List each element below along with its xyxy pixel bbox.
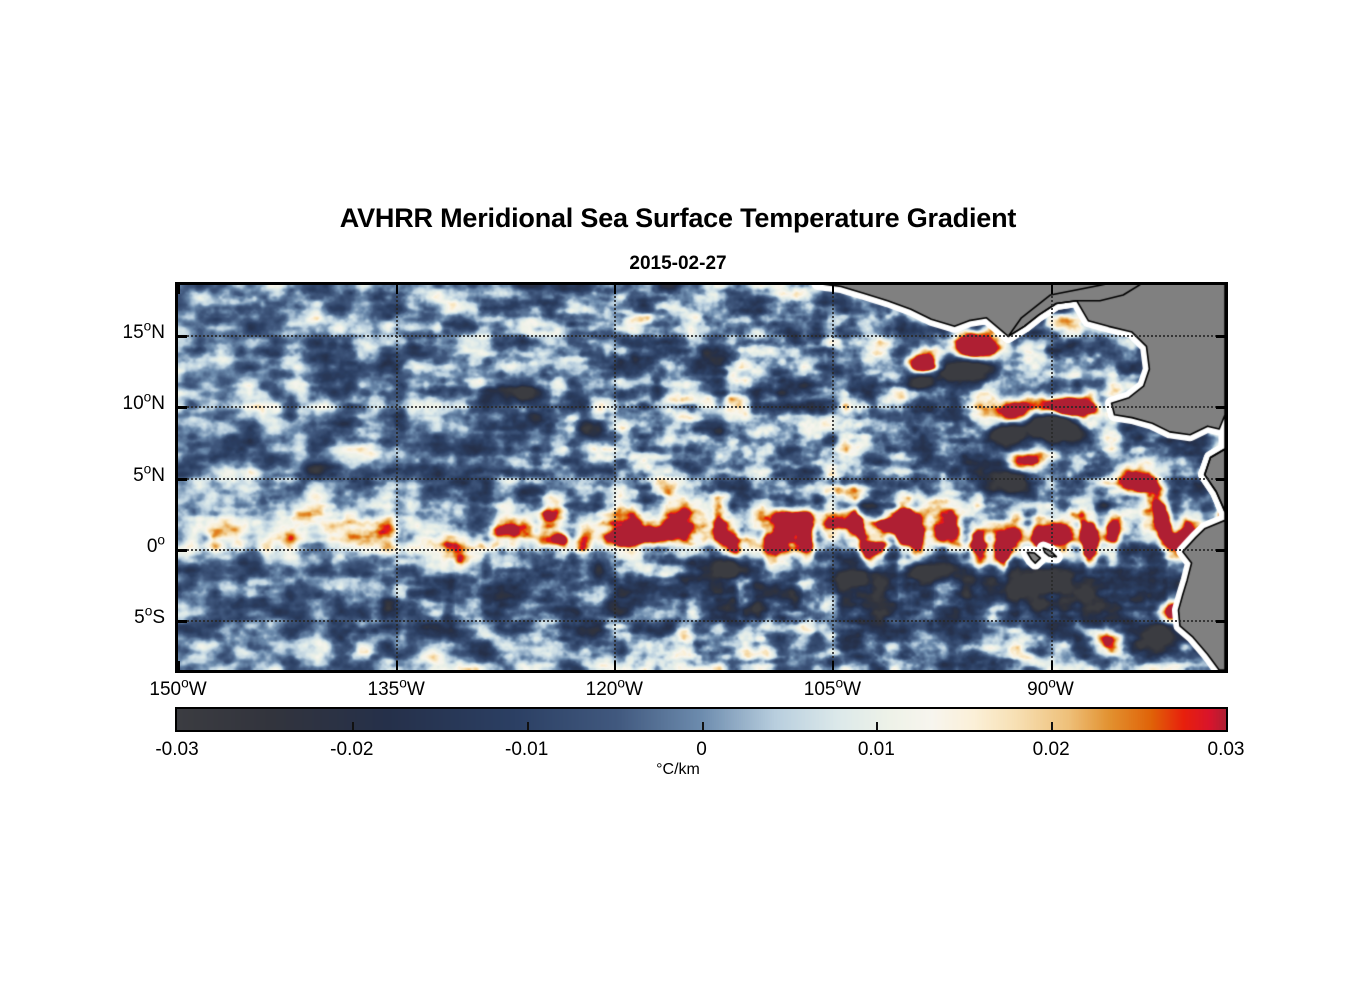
x-axis-tick [396, 285, 398, 294]
gridline-latitude [178, 335, 1225, 337]
y-axis-tick [1216, 620, 1225, 623]
gridline-longitude [614, 285, 616, 670]
x-axis-tick [832, 285, 834, 294]
y-axis-tick [1216, 406, 1225, 409]
colorbar-tick-label: -0.01 [457, 739, 597, 761]
x-axis-tick-label: 120oW [554, 679, 674, 701]
colorbar-tick [352, 722, 354, 730]
colorbar-tick-label: -0.02 [282, 739, 422, 761]
x-axis-tick-label: 105oW [772, 679, 892, 701]
gridline-longitude [832, 285, 834, 670]
colorbar-tick-label: 0.01 [806, 739, 946, 761]
figure-canvas: AVHRR Meridional Sea Surface Temperature… [0, 0, 1356, 1000]
colorbar [175, 707, 1228, 732]
figure-title: AVHRR Meridional Sea Surface Temperature… [0, 203, 1356, 234]
colorbar-unit-label: °C/km [0, 761, 1356, 779]
y-axis-tick-label: 10oN [43, 393, 165, 415]
y-axis-tick [1216, 478, 1225, 481]
x-axis-tick [178, 285, 180, 294]
x-axis-tick-label: 135oW [336, 679, 456, 701]
map-axes [175, 282, 1228, 673]
y-axis-tick-label: 5oN [43, 465, 165, 487]
y-axis-tick [1216, 549, 1225, 552]
x-axis-tick [1051, 285, 1053, 294]
y-axis-tick [178, 478, 187, 481]
x-axis-tick [396, 661, 398, 670]
y-axis-tick [178, 335, 187, 338]
colorbar-tick [876, 722, 878, 730]
figure-subtitle-date: 2015-02-27 [0, 253, 1356, 275]
gridline-longitude [1051, 285, 1053, 670]
y-axis-tick [1216, 335, 1225, 338]
colorbar-tick-label: 0 [632, 739, 772, 761]
colorbar-tick-label: 0.02 [981, 739, 1121, 761]
x-axis-tick-label: 150oW [118, 679, 238, 701]
y-axis-tick-label: 0o [43, 536, 165, 558]
colorbar-tick [702, 722, 704, 730]
colorbar-tick [527, 722, 529, 730]
colorbar-tick-label: 0.03 [1156, 739, 1296, 761]
colorbar-tick [1051, 722, 1053, 730]
colorbar-tick-label: -0.03 [107, 739, 247, 761]
x-axis-tick [832, 661, 834, 670]
y-axis-tick [178, 406, 187, 409]
y-axis-tick-label: 5oS [43, 607, 165, 629]
gridline-latitude [178, 620, 1225, 622]
y-axis-tick [178, 549, 187, 552]
gridline-latitude [178, 406, 1225, 408]
x-axis-tick [1051, 661, 1053, 670]
gridline-latitude [178, 549, 1225, 551]
y-axis-tick-label: 15oN [43, 322, 165, 344]
y-axis-tick [178, 620, 187, 623]
gridline-latitude [178, 478, 1225, 480]
x-axis-tick-label: 90oW [991, 679, 1111, 701]
x-axis-tick [178, 661, 180, 670]
x-axis-tick [614, 661, 616, 670]
x-axis-tick [614, 285, 616, 294]
gridline-longitude [396, 285, 398, 670]
